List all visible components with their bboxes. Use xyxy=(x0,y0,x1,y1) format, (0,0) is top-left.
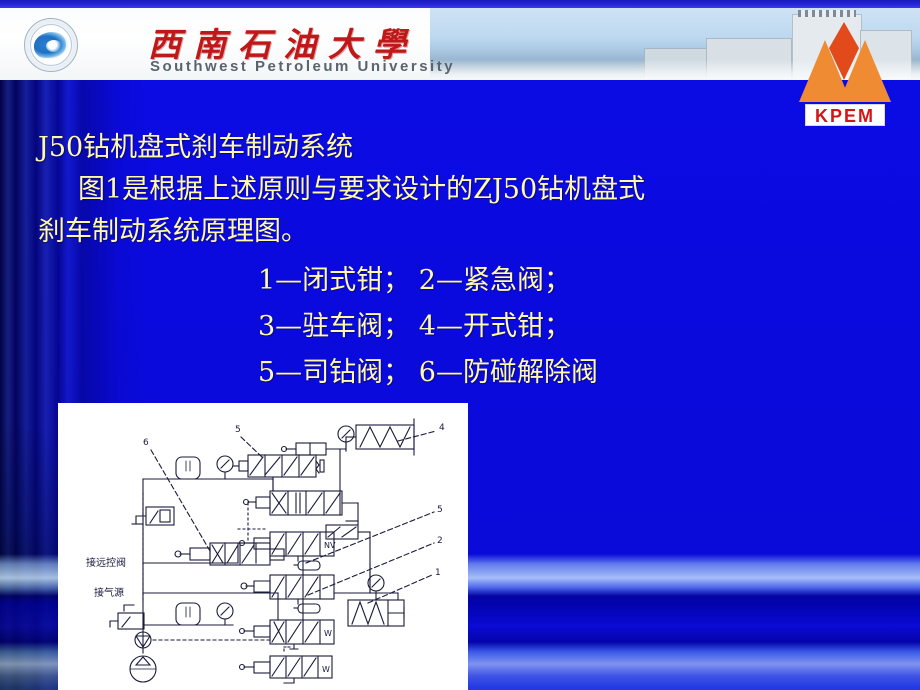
paragraph-line-2: 刹车制动系统原理图。 xyxy=(38,212,308,252)
building-roof-detail xyxy=(798,10,856,17)
legend-line-1: 1—闭式钳； 2—紧急阀； xyxy=(258,262,571,300)
slide-title: J50钻机盘式刹车制动系统 xyxy=(38,128,353,168)
svg-text:4: 4 xyxy=(439,423,445,433)
svg-text:6: 6 xyxy=(143,438,149,448)
svg-text:W: W xyxy=(324,629,332,638)
legend-line-3: 5—司钻阀； 6—防碰解除阀 xyxy=(258,354,598,392)
svg-text:1: 1 xyxy=(435,568,441,578)
seal-swirl xyxy=(34,32,70,60)
svg-text:接远控阀: 接远控阀 xyxy=(86,556,126,569)
kpem-label: KPEM xyxy=(805,104,885,126)
university-banner: 西南石油大學 Southwest Petroleum University xyxy=(0,8,920,80)
paragraph-line-1: 图1是根据上述原则与要求设计的ZJ50钻机盘式 xyxy=(78,170,645,210)
svg-text:5: 5 xyxy=(437,505,443,515)
top-accent-strip xyxy=(0,0,920,8)
kpem-logo: KPEM xyxy=(795,18,895,128)
svg-text:NV: NV xyxy=(324,541,336,550)
svg-text:接气源: 接气源 xyxy=(94,586,124,599)
university-seal-icon xyxy=(24,18,78,72)
svg-text:2: 2 xyxy=(437,536,443,546)
presentation-slide: 西南石油大學 Southwest Petroleum University KP… xyxy=(0,0,920,690)
svg-text:W: W xyxy=(322,665,330,674)
svg-text:5: 5 xyxy=(235,425,241,435)
university-name-en: Southwest Petroleum University xyxy=(150,58,455,75)
legend-line-2: 3—驻车阀； 4—开式钳； xyxy=(258,308,571,346)
pneumatic-schematic-figure: 6 5 4 5 2 1 xyxy=(58,403,468,690)
